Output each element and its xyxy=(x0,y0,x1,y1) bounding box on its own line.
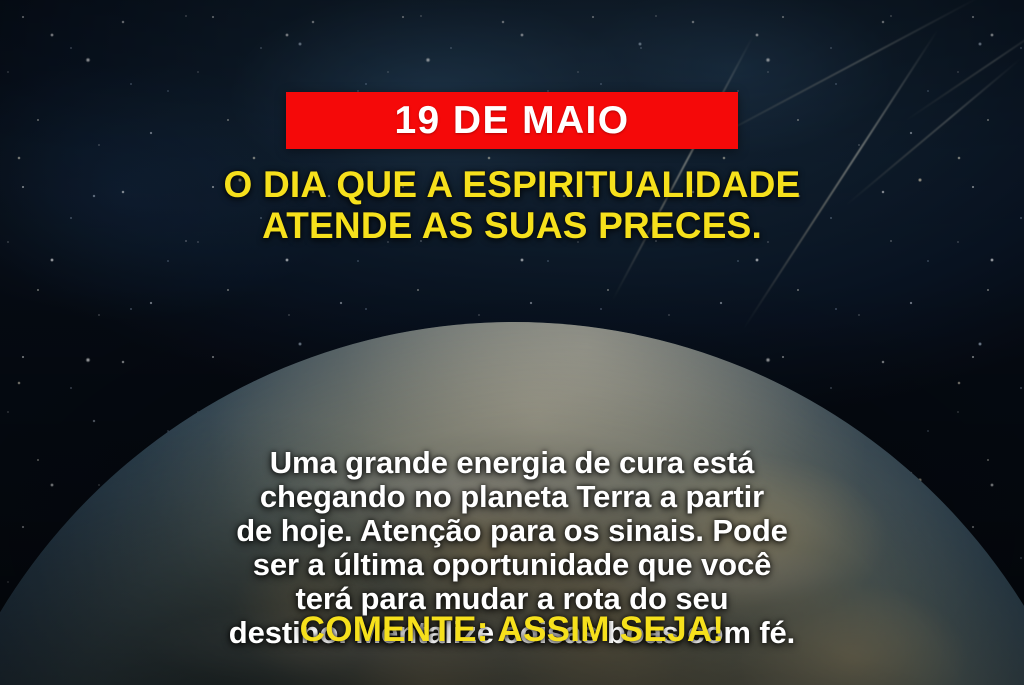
body-line-3: de hoje. Atenção para os sinais. Pode xyxy=(0,514,1024,548)
headline-line-2: ATENDE AS SUAS PRECES. xyxy=(0,205,1024,246)
date-banner-text: 19 DE MAIO xyxy=(394,101,629,140)
body-line-2: chegando no planeta Terra a partir xyxy=(0,480,1024,514)
headline-line-1: O DIA QUE A ESPIRITUALIDADE xyxy=(0,164,1024,205)
poster-image: 19 DE MAIO O DIA QUE A ESPIRITUALIDADE A… xyxy=(0,0,1024,685)
body-line-1: Uma grande energia de cura está xyxy=(0,446,1024,480)
date-banner: 19 DE MAIO xyxy=(286,92,738,149)
call-to-action-text: COMENTE: ASSIM SEJA! xyxy=(0,612,1024,647)
body-line-4: ser a última oportunidade que você xyxy=(0,548,1024,582)
poster-content: 19 DE MAIO O DIA QUE A ESPIRITUALIDADE A… xyxy=(0,0,1024,685)
headline: O DIA QUE A ESPIRITUALIDADE ATENDE AS SU… xyxy=(0,164,1024,247)
